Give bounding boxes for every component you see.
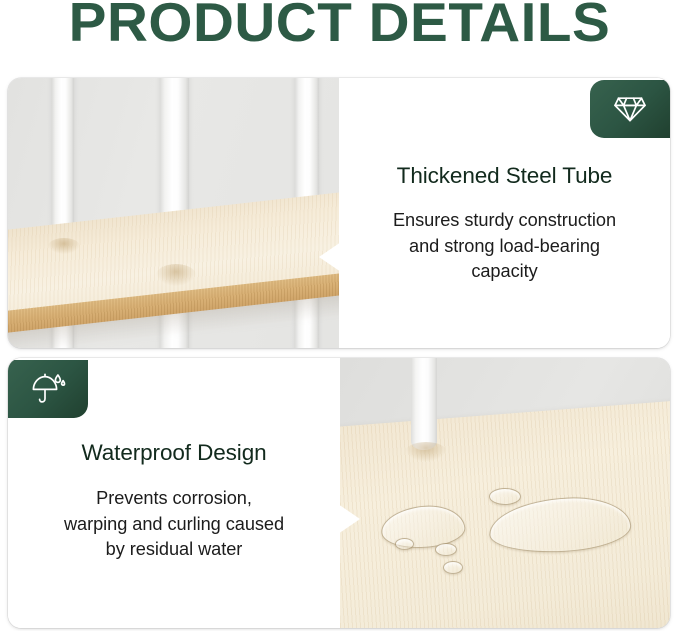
feature-badge-waterproof-design — [8, 360, 88, 418]
waterproof-board-photo — [339, 358, 670, 628]
feature-heading: Waterproof Design — [8, 439, 340, 466]
water-droplet — [435, 543, 457, 556]
feature-panel-thickened-steel-tube: Thickened Steel Tube Ensures sturdy cons… — [8, 78, 670, 348]
feature-text-card-thickened-steel-tube: Thickened Steel Tube Ensures sturdy cons… — [339, 78, 670, 348]
water-droplet — [489, 488, 521, 505]
tube-foot-shadow — [156, 264, 196, 286]
diamond-icon — [613, 94, 647, 124]
feature-heading: Thickened Steel Tube — [339, 162, 670, 189]
feature-body-text: Prevents corrosion, warping and curling … — [8, 486, 340, 563]
tube-foot-shadow — [48, 238, 80, 254]
feature-text-card-waterproof-design: Waterproof Design Prevents corrosion, wa… — [8, 358, 340, 628]
water-droplet — [443, 561, 463, 574]
feature-panel-waterproof-design: Waterproof Design Prevents corrosion, wa… — [8, 358, 670, 628]
water-droplet — [395, 538, 414, 550]
feature-body-text: Ensures sturdy construction and strong l… — [339, 208, 670, 285]
steel-tube-shelf-photo — [8, 78, 340, 348]
steel-tube-leg — [411, 358, 437, 450]
feature-badge-thickened-steel-tube — [590, 80, 670, 138]
tube-foot-shadow — [405, 442, 447, 462]
umbrella-with-raindrops-icon — [30, 373, 66, 405]
page-title: PRODUCT DETAILS — [0, 0, 679, 53]
